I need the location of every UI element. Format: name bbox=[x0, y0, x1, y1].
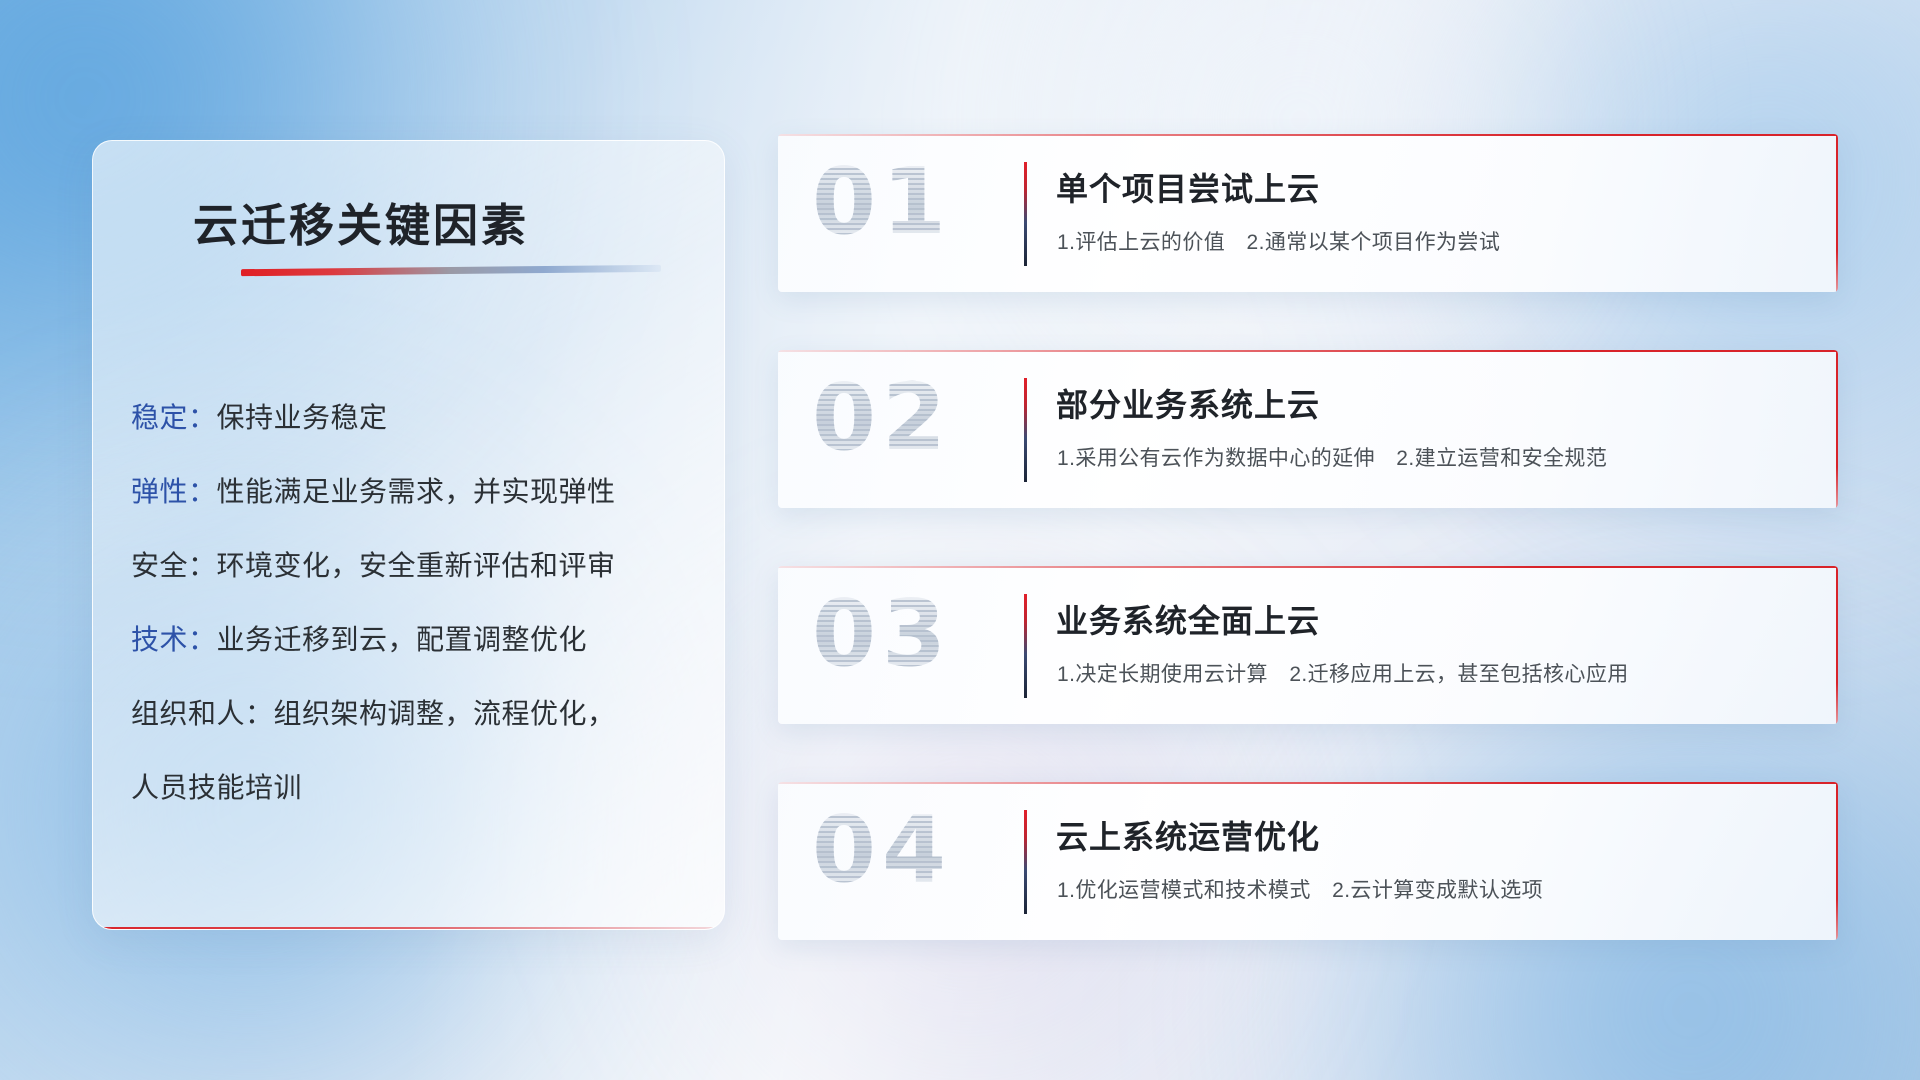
page-title: 云迁移关键因素 bbox=[193, 189, 529, 254]
stage-number-watermark: 04 bbox=[812, 796, 952, 903]
title-underline-accent bbox=[241, 265, 661, 276]
factor-label: 稳定： bbox=[131, 402, 217, 433]
factor-description: 组织架构调整，流程优化， bbox=[274, 698, 616, 729]
factor-description: 业务迁移到云，配置调整优化 bbox=[217, 624, 588, 655]
factor-list: 稳定：保持业务稳定弹性：性能满足业务需求，并实现弹性安全：环境变化，安全重新评估… bbox=[131, 381, 700, 825]
stage-subtitle: 1.评估上云的价值 2.通常以某个项目作为尝试 bbox=[1057, 226, 1500, 256]
stage-number-watermark: 03 bbox=[812, 580, 952, 687]
stage-card[interactable]: 03业务系统全面上云1.决定长期使用云计算 2.迁移应用上云，甚至包括核心应用 bbox=[778, 566, 1838, 724]
stage-divider-accent bbox=[1024, 810, 1027, 914]
stage-card[interactable]: 01单个项目尝试上云1.评估上云的价值 2.通常以某个项目作为尝试 bbox=[778, 134, 1838, 292]
stage-subtitle: 1.采用公有云作为数据中心的延伸 2.建立运营和安全规范 bbox=[1057, 442, 1607, 472]
stage-number-watermark: 02 bbox=[812, 364, 952, 471]
stage-card[interactable]: 02部分业务系统上云1.采用公有云作为数据中心的延伸 2.建立运营和安全规范 bbox=[778, 350, 1838, 508]
factor-row: 弹性：性能满足业务需求，并实现弹性 bbox=[131, 455, 700, 529]
stage-title: 单个项目尝试上云 bbox=[1056, 164, 1320, 210]
factor-label: 技术： bbox=[131, 624, 217, 655]
factor-row: 技术：业务迁移到云，配置调整优化 bbox=[131, 603, 700, 677]
factor-label: 安全： bbox=[131, 550, 217, 581]
factor-row: 组织和人：组织架构调整，流程优化， bbox=[131, 677, 700, 751]
stage-divider-accent bbox=[1024, 162, 1027, 266]
factor-row: 稳定：保持业务稳定 bbox=[131, 381, 700, 455]
factor-row: 安全：环境变化，安全重新评估和评审 bbox=[131, 529, 700, 603]
stage-number-watermark: 01 bbox=[812, 148, 952, 255]
factor-label: 弹性： bbox=[131, 476, 217, 507]
stage-card[interactable]: 04云上系统运营优化1.优化运营模式和技术模式 2.云计算变成默认选项 bbox=[778, 782, 1838, 940]
factor-label: 组织和人： bbox=[131, 698, 274, 729]
factor-description: 性能满足业务需求，并实现弹性 bbox=[217, 476, 616, 507]
stage-subtitle: 1.优化运营模式和技术模式 2.云计算变成默认选项 bbox=[1057, 874, 1543, 904]
stage-title: 云上系统运营优化 bbox=[1056, 812, 1320, 858]
stage-title: 业务系统全面上云 bbox=[1056, 596, 1320, 642]
stage-card-list: 01单个项目尝试上云1.评估上云的价值 2.通常以某个项目作为尝试02部分业务系… bbox=[778, 134, 1838, 998]
stage-divider-accent bbox=[1024, 378, 1027, 482]
factor-description: 人员技能培训 bbox=[131, 772, 302, 803]
factor-row: 人员技能培训 bbox=[131, 751, 700, 825]
stage-title: 部分业务系统上云 bbox=[1056, 380, 1320, 426]
factor-description: 保持业务稳定 bbox=[217, 402, 388, 433]
factor-description: 环境变化，安全重新评估和评审 bbox=[217, 550, 616, 581]
key-factors-panel: 云迁移关键因素 稳定：保持业务稳定弹性：性能满足业务需求，并实现弹性安全：环境变… bbox=[92, 140, 725, 930]
stage-subtitle: 1.决定长期使用云计算 2.迁移应用上云，甚至包括核心应用 bbox=[1057, 658, 1629, 688]
stage-divider-accent bbox=[1024, 594, 1027, 698]
